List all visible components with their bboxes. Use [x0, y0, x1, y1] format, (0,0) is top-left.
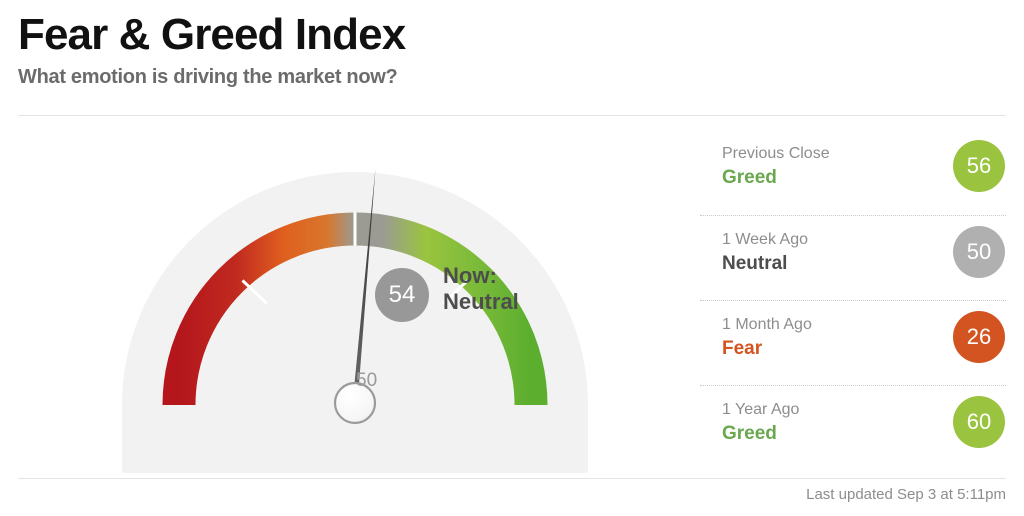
- footer-divider: [18, 478, 1006, 479]
- gauge-chart: [18, 125, 638, 473]
- history-row-text: Previous Close Greed: [722, 143, 830, 190]
- history-row-previous-close[interactable]: Previous Close Greed 56: [700, 130, 1006, 215]
- history-state: Greed: [722, 165, 830, 190]
- current-score-badge: 54: [375, 268, 429, 322]
- history-period: 1 Year Ago: [722, 399, 799, 421]
- gauge-panel: 54 Now: Neutral 0 50 100 Extreme Fear Ex…: [18, 125, 638, 473]
- header: Fear & Greed Index What emotion is drivi…: [18, 8, 405, 90]
- now-label: Now:: [443, 262, 497, 290]
- history-row-text: 1 Year Ago Greed: [722, 399, 799, 446]
- history-state: Greed: [722, 421, 799, 446]
- fear-greed-index-widget: Fear & Greed Index What emotion is drivi…: [0, 0, 1024, 516]
- gauge-tick-50: 50: [356, 370, 377, 392]
- history-score-circle: 26: [953, 311, 1005, 363]
- history-score-circle: 56: [953, 140, 1005, 192]
- header-divider: [18, 115, 1006, 116]
- history-row-one-year-ago[interactable]: 1 Year Ago Greed 60: [700, 385, 1006, 470]
- history-row-one-week-ago[interactable]: 1 Week Ago Neutral 50: [700, 215, 1006, 300]
- history-period: 1 Month Ago: [722, 314, 812, 336]
- history-score-circle: 50: [953, 226, 1005, 278]
- history-row-text: 1 Week Ago Neutral: [722, 229, 808, 276]
- page-subtitle: What emotion is driving the market now?: [18, 64, 405, 90]
- history-row-text: 1 Month Ago Fear: [722, 314, 812, 361]
- history-period: Previous Close: [722, 143, 830, 165]
- history-score-circle: 60: [953, 396, 1005, 448]
- last-updated-text: Last updated Sep 3 at 5:11pm: [806, 486, 1006, 503]
- history-state: Fear: [722, 336, 812, 361]
- page-title: Fear & Greed Index: [18, 8, 405, 62]
- history-row-one-month-ago[interactable]: 1 Month Ago Fear 26: [700, 300, 1006, 385]
- history-state: Neutral: [722, 251, 808, 276]
- now-value: Neutral: [443, 288, 519, 316]
- history-list: Previous Close Greed 56 1 Week Ago Neutr…: [700, 130, 1006, 470]
- history-period: 1 Week Ago: [722, 229, 808, 251]
